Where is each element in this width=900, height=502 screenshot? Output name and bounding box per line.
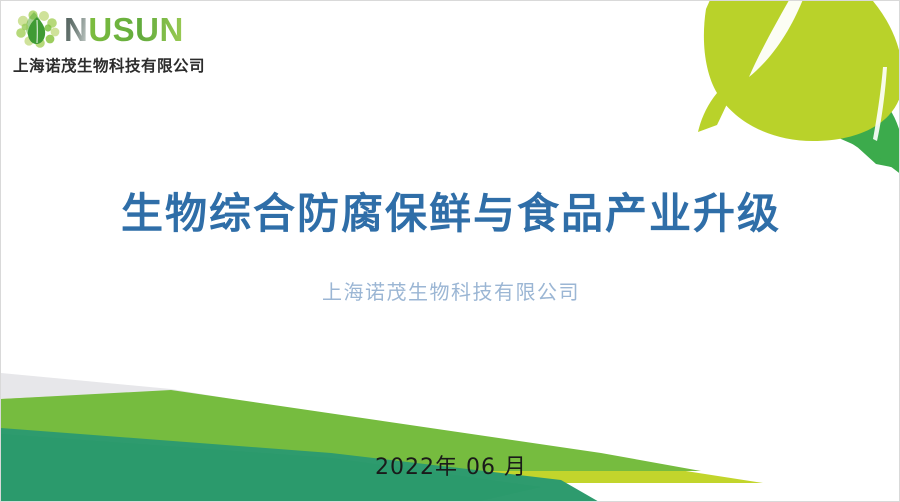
title-block: 生物综合防腐保鲜与食品产业升级 上海诺茂生物科技有限公司	[1, 189, 900, 305]
leaf-vein-highlight	[749, 1, 813, 77]
leaf-light-green-shape	[704, 1, 900, 141]
logo-wordmark: NUSUN	[64, 13, 184, 46]
leaf-cluster-logo-icon	[13, 8, 61, 50]
page-subtitle: 上海诺茂生物科技有限公司	[1, 276, 900, 305]
wave-gray-shape	[1, 373, 561, 453]
leaf-dark-green-blade	[786, 66, 900, 176]
leaf-dark-vein-highlight	[873, 67, 887, 141]
logo-wordmark-rest: USUN	[88, 11, 184, 48]
logo-company-name: 上海诺茂生物科技有限公司	[13, 54, 243, 76]
page-title: 生物综合防腐保鲜与食品产业升级	[1, 189, 900, 239]
logo-wordmark-n: N	[64, 11, 88, 48]
leaf-dark-green-shape	[794, 41, 900, 169]
company-logo: NUSUN 上海诺茂生物科技有限公司	[13, 7, 243, 77]
leaf-light-green-tip	[698, 93, 731, 132]
slide-date: 2022年 06 月	[1, 449, 900, 481]
presentation-title-slide: NUSUN 上海诺茂生物科技有限公司 生物综合防腐保鲜与食品产业升级 上海诺茂生…	[0, 0, 900, 502]
